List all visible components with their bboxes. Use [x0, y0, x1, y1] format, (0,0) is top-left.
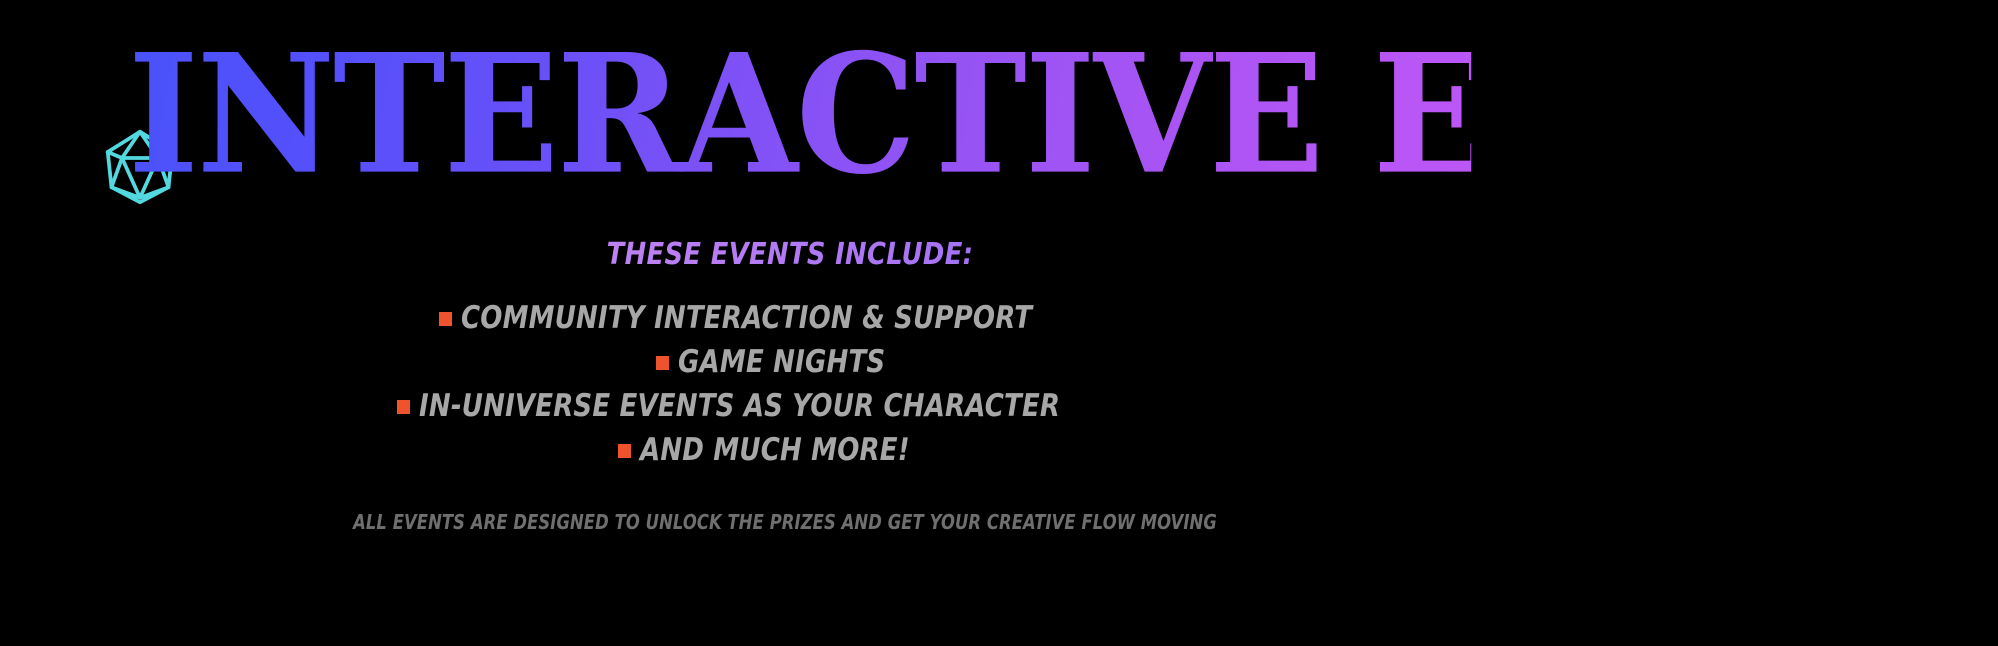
bullet-square-icon [439, 312, 452, 326]
event-item-label: GAME NIGHTS [678, 344, 885, 380]
footnote-text: ALL EVENTS ARE DESIGNED TO UNLOCK THE PR… [141, 508, 1428, 536]
interactive-events-section: INTERACTIVE EVENTS THESE EVENTS INCLUDE:… [0, 0, 1580, 646]
event-list: COMMUNITY INTERACTION & SUPPORT GAME NIG… [0, 300, 1580, 476]
subtitle-these-events-include: THESE EVENTS INCLUDE: [111, 236, 1470, 274]
bullet-square-icon [618, 444, 631, 458]
list-item: GAME NIGHTS [0, 344, 1580, 380]
page-title: INTERACTIVE EVENTS [128, 28, 1471, 201]
list-item: COMMUNITY INTERACTION & SUPPORT [0, 300, 1580, 336]
event-item-label: COMMUNITY INTERACTION & SUPPORT [461, 300, 1032, 336]
title-row: INTERACTIVE EVENTS [78, 28, 1478, 208]
list-item: IN-UNIVERSE EVENTS AS YOUR CHARACTER [0, 388, 1580, 424]
event-item-label: AND MUCH MORE! [640, 432, 910, 468]
bullet-square-icon [397, 400, 410, 414]
event-item-label: IN-UNIVERSE EVENTS AS YOUR CHARACTER [419, 388, 1060, 424]
bullet-square-icon [656, 356, 669, 370]
list-item: AND MUCH MORE! [0, 432, 1580, 468]
